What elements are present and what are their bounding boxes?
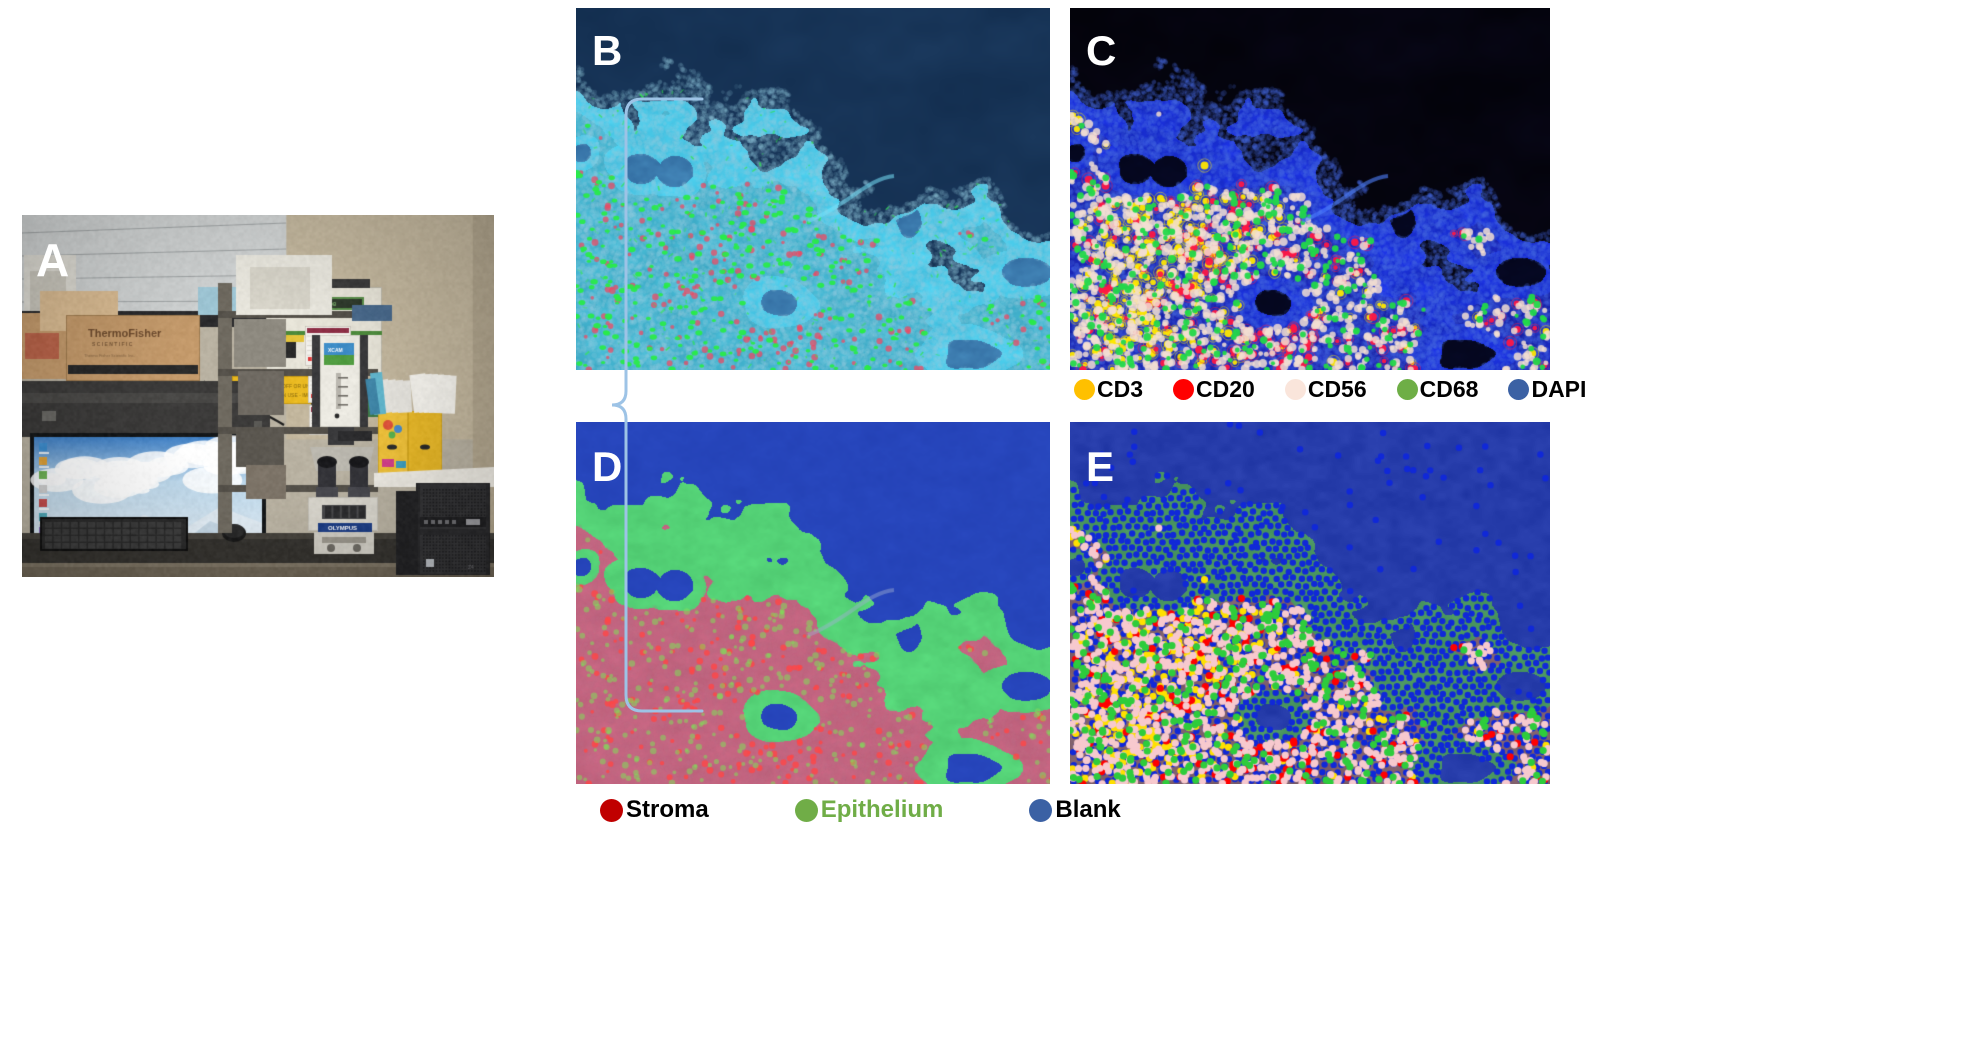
grouping-bracket (530, 95, 720, 715)
legend-label-cd68: CD68 (1420, 376, 1479, 403)
cd68-color-swatch (1397, 379, 1418, 400)
marker-legend: CD3 CD20 CD56 CD68 DAPI (1074, 376, 1586, 403)
legend-label-stroma: Stroma (626, 796, 709, 824)
panel-e-cell-phenotype-map: E (1070, 422, 1550, 784)
legend-item-cd68: CD68 (1397, 376, 1479, 403)
legend-item-cd20: CD20 (1173, 376, 1255, 403)
legend-item-cd3: CD3 (1074, 376, 1143, 403)
bracket-path (612, 99, 702, 711)
legend-label-cd56: CD56 (1308, 376, 1367, 403)
legend-item-cd56: CD56 (1285, 376, 1367, 403)
cell-phenotype-map (1070, 422, 1550, 784)
figure-canvas: A B C CD3 CD20 CD56 CD68 DA (0, 0, 1962, 1058)
legend-label-blank: Blank (1055, 796, 1120, 824)
cd3-color-swatch (1074, 379, 1095, 400)
blank-color-swatch (1029, 799, 1052, 822)
legend-item-dapi: DAPI (1508, 376, 1586, 403)
dapi-color-swatch (1508, 379, 1529, 400)
cd56-color-swatch (1285, 379, 1306, 400)
cd20-color-swatch (1173, 379, 1194, 400)
legend-item-blank: Blank (1029, 796, 1120, 824)
legend-item-epithelium: Epithelium (795, 796, 944, 824)
tissue-class-legend: Stroma Epithelium Blank (600, 796, 1121, 824)
panel-a-lab-photo: A (22, 215, 494, 577)
epithelium-color-swatch (795, 799, 818, 822)
legend-label-cd3: CD3 (1097, 376, 1143, 403)
legend-label-cd20: CD20 (1196, 376, 1255, 403)
multiplex-immunofluorescence-micrograph (1070, 8, 1550, 370)
lab-photograph-image (22, 215, 494, 577)
legend-label-dapi: DAPI (1531, 376, 1586, 403)
legend-label-epithelium: Epithelium (821, 796, 944, 824)
panel-c-multiplex-if: C (1070, 8, 1550, 370)
legend-item-stroma: Stroma (600, 796, 709, 824)
stroma-color-swatch (600, 799, 623, 822)
